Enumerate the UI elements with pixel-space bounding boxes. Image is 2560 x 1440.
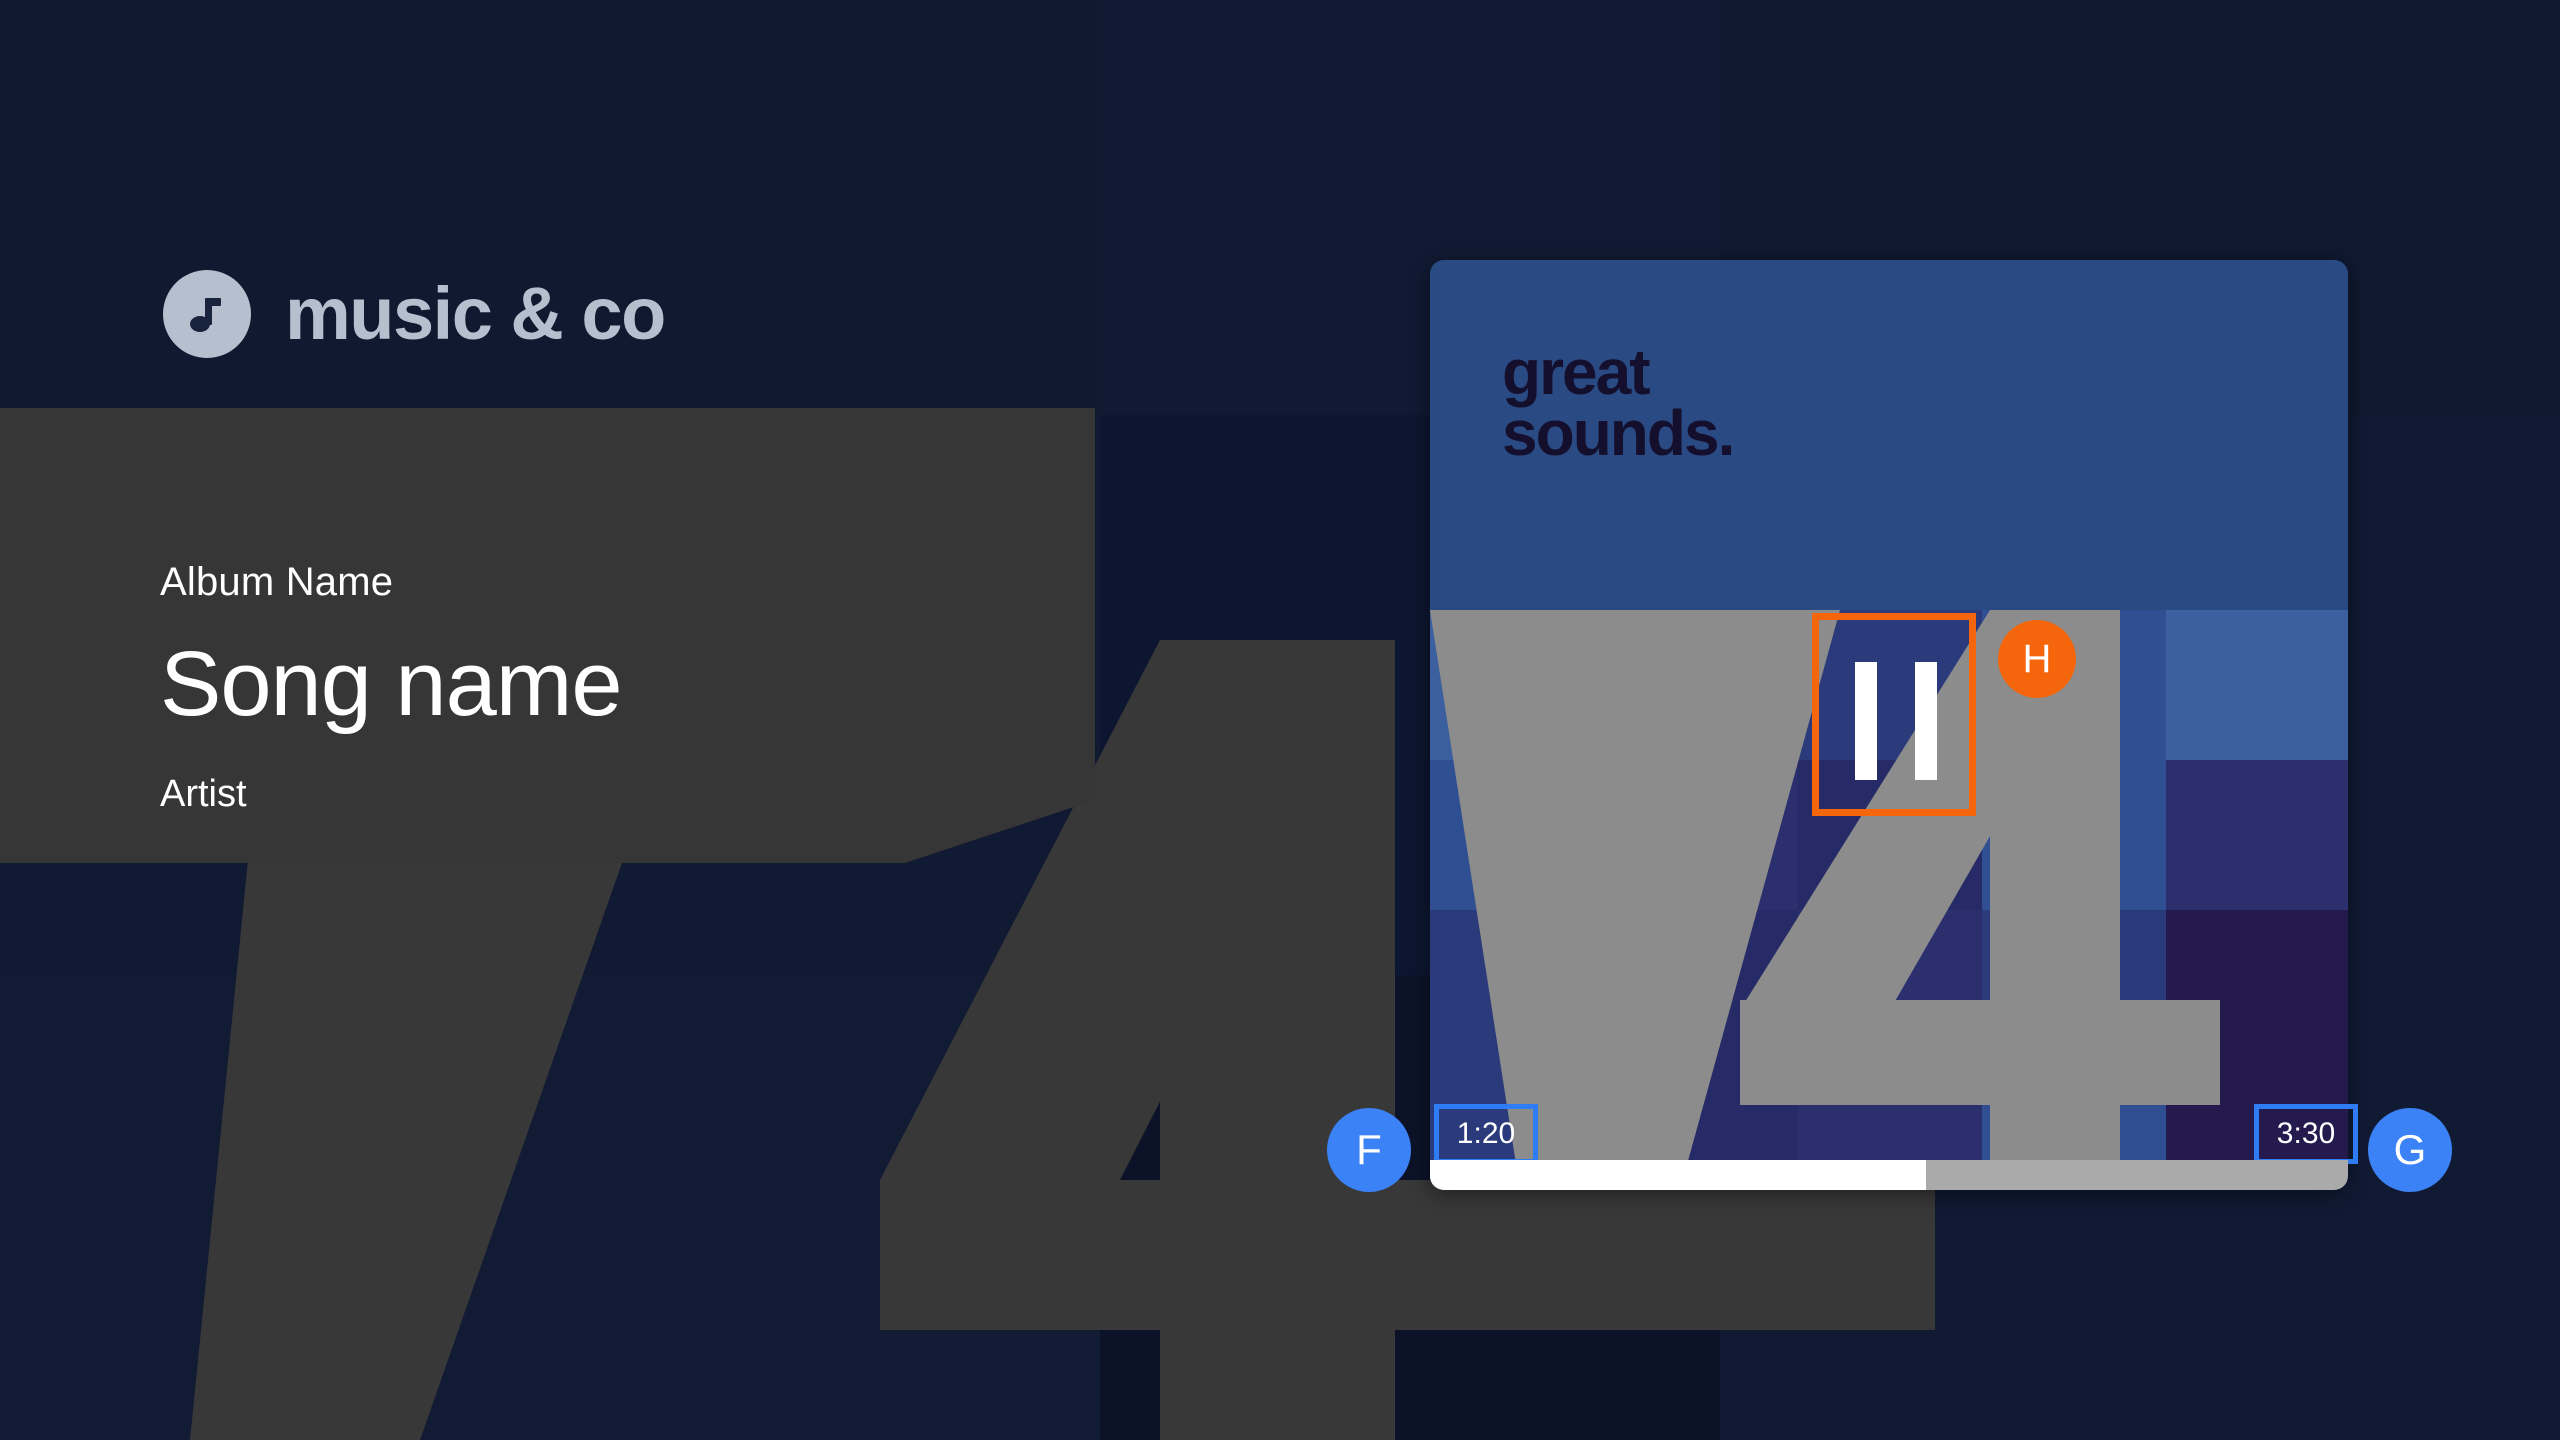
music-note-icon: [163, 270, 251, 358]
song-title: Song name: [160, 638, 1060, 730]
album-name: Album Name: [160, 560, 1060, 604]
pause-bar-right: [1915, 662, 1937, 780]
current-time[interactable]: 1:20: [1434, 1104, 1538, 1164]
track-metadata: Album Name Song name Artist: [160, 560, 1060, 816]
marker-badge-h: H: [1998, 620, 2076, 698]
progress-bar[interactable]: [1430, 1160, 2348, 1190]
brand-name: music & co: [285, 277, 665, 351]
progress-fill: [1430, 1160, 1926, 1190]
total-time[interactable]: 3:30: [2254, 1104, 2358, 1164]
album-art-headline: great sounds.: [1502, 342, 1733, 465]
marker-badge-g: G: [2368, 1108, 2452, 1192]
pause-button[interactable]: [1812, 613, 1976, 816]
marker-badge-f: F: [1327, 1108, 1411, 1192]
app-root: music & co Album Name Song name Artist g…: [0, 0, 2560, 1440]
pause-bar-left: [1855, 662, 1877, 780]
album-art-header: great sounds.: [1430, 260, 2348, 610]
artist-name: Artist: [160, 774, 1060, 816]
brand-logo[interactable]: music & co: [163, 270, 665, 358]
